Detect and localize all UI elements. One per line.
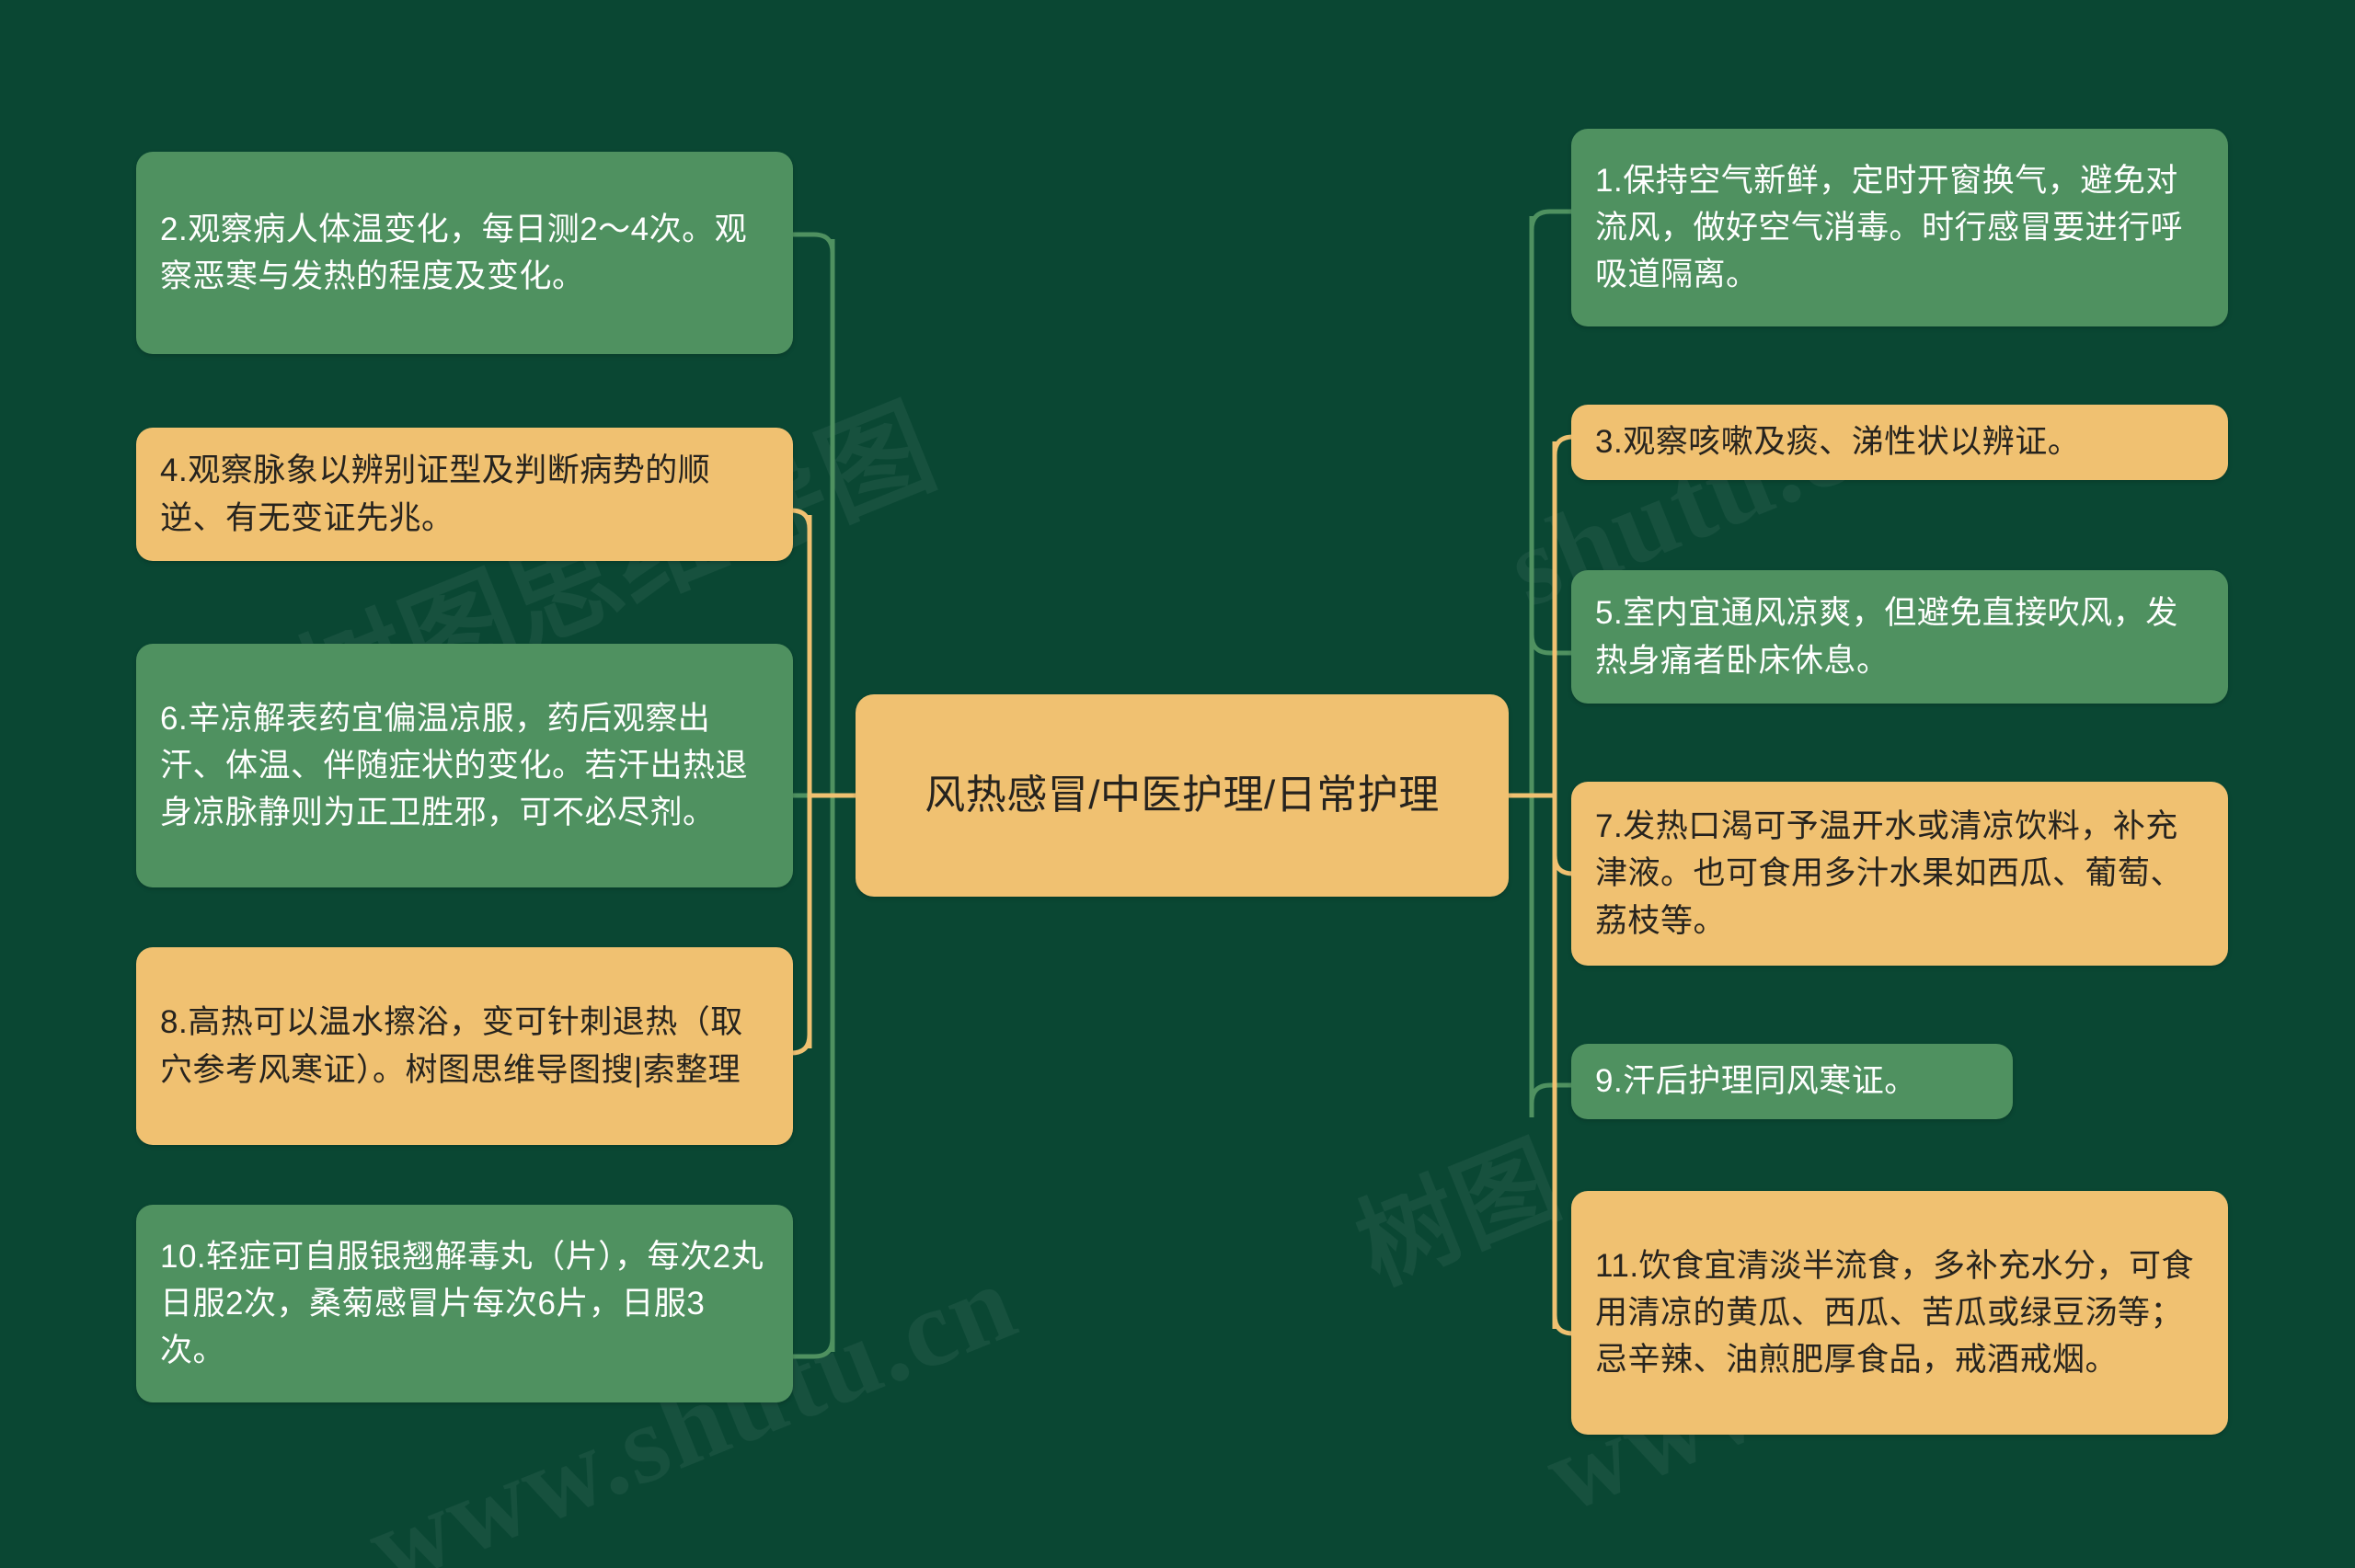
branch-node-1-label: 1.保持空气新鲜，定时开窗换气，避免对流风，做好空气消毒。时行感冒要进行呼吸道隔…: [1595, 157, 2204, 298]
branch-node-4[interactable]: 4.观察脉象以辨别证型及判断病势的顺逆、有无变证先兆。: [136, 428, 793, 561]
link-elbow-node-3: [1555, 437, 1573, 455]
branch-node-9-label: 9.汗后护理同风寒证。: [1595, 1058, 1989, 1104]
branch-node-11-label: 11.饮食宜清淡半流食，多补充水分，可食用清凉的黄瓜、西瓜、苦瓜或绿豆汤等；忌辛…: [1595, 1242, 2204, 1383]
link-elbow-node-7: [1555, 855, 1573, 874]
branch-node-10[interactable]: 10.轻症可自服银翘解毒丸（片），每次2丸日服2次，桑菊感冒片每次6片，日服3次…: [136, 1205, 793, 1402]
link-elbow-node-2: [793, 235, 833, 253]
link-elbow-node-9: [1532, 1085, 1571, 1104]
branch-node-11[interactable]: 11.饮食宜清淡半流食，多补充水分，可食用清凉的黄瓜、西瓜、苦瓜或绿豆汤等；忌辛…: [1571, 1191, 2228, 1435]
link-elbow-node-4: [791, 510, 810, 529]
branch-node-2-label: 2.观察病人体温变化，每日测2～4次。观察恶寒与发热的程度及变化。: [160, 206, 769, 300]
branch-node-6[interactable]: 6.辛凉解表药宜偏温凉服，药后观察出汗、体温、伴随症状的变化。若汗出热退身凉脉静…: [136, 644, 793, 887]
branch-node-2[interactable]: 2.观察病人体温变化，每日测2～4次。观察恶寒与发热的程度及变化。: [136, 152, 793, 354]
branch-node-8[interactable]: 8.高热可以温水擦浴，变可针刺退热（取穴参考风寒证）。树图思维导图搜|索整理: [136, 947, 793, 1145]
branch-node-4-label: 4.观察脉象以辨别证型及判断病势的顺逆、有无变证先兆。: [160, 447, 769, 541]
link-elbow-node-5: [1532, 635, 1571, 653]
link-elbow-node-10: [793, 1338, 833, 1356]
branch-node-7[interactable]: 7.发热口渴可予温开水或清凉饮料，补充津液。也可食用多汁水果如西瓜、葡萄、荔枝等…: [1571, 782, 2228, 966]
root-node-label: 风热感冒/中医护理/日常护理: [879, 767, 1485, 824]
branch-node-10-label: 10.轻症可自服银翘解毒丸（片），每次2丸日服2次，桑菊感冒片每次6片，日服3次…: [160, 1233, 769, 1374]
mindmap-canvas: 树图思维导图 shutu.cn www.shutu.cn www.shutu.c…: [0, 0, 2355, 1568]
branch-node-5-label: 5.室内宜通风凉爽，但避免直接吹风，发热身痛者卧床休息。: [1595, 589, 2204, 683]
branch-node-8-label: 8.高热可以温水擦浴，变可针刺退热（取穴参考风寒证）。树图思维导图搜|索整理: [160, 999, 769, 1093]
branch-node-9[interactable]: 9.汗后护理同风寒证。: [1571, 1044, 2013, 1119]
branch-node-1[interactable]: 1.保持空气新鲜，定时开窗换气，避免对流风，做好空气消毒。时行感冒要进行呼吸道隔…: [1571, 129, 2228, 326]
branch-node-6-label: 6.辛凉解表药宜偏温凉服，药后观察出汗、体温、伴随症状的变化。若汗出热退身凉脉静…: [160, 695, 769, 836]
branch-node-3-label: 3.观察咳嗽及痰、涕性状以辨证。: [1595, 418, 2204, 465]
root-node[interactable]: 风热感冒/中医护理/日常护理: [856, 694, 1509, 897]
branch-node-5[interactable]: 5.室内宜通风凉爽，但避免直接吹风，发热身痛者卧床休息。: [1571, 570, 2228, 704]
link-elbow-node-8: [791, 1035, 810, 1053]
branch-node-3[interactable]: 3.观察咳嗽及痰、涕性状以辨证。: [1571, 405, 2228, 480]
link-elbow-node-1: [1532, 212, 1571, 230]
branch-node-7-label: 7.发热口渴可予温开水或清凉饮料，补充津液。也可食用多汁水果如西瓜、葡萄、荔枝等…: [1595, 803, 2204, 944]
link-elbow-node-11: [1555, 1315, 1573, 1333]
